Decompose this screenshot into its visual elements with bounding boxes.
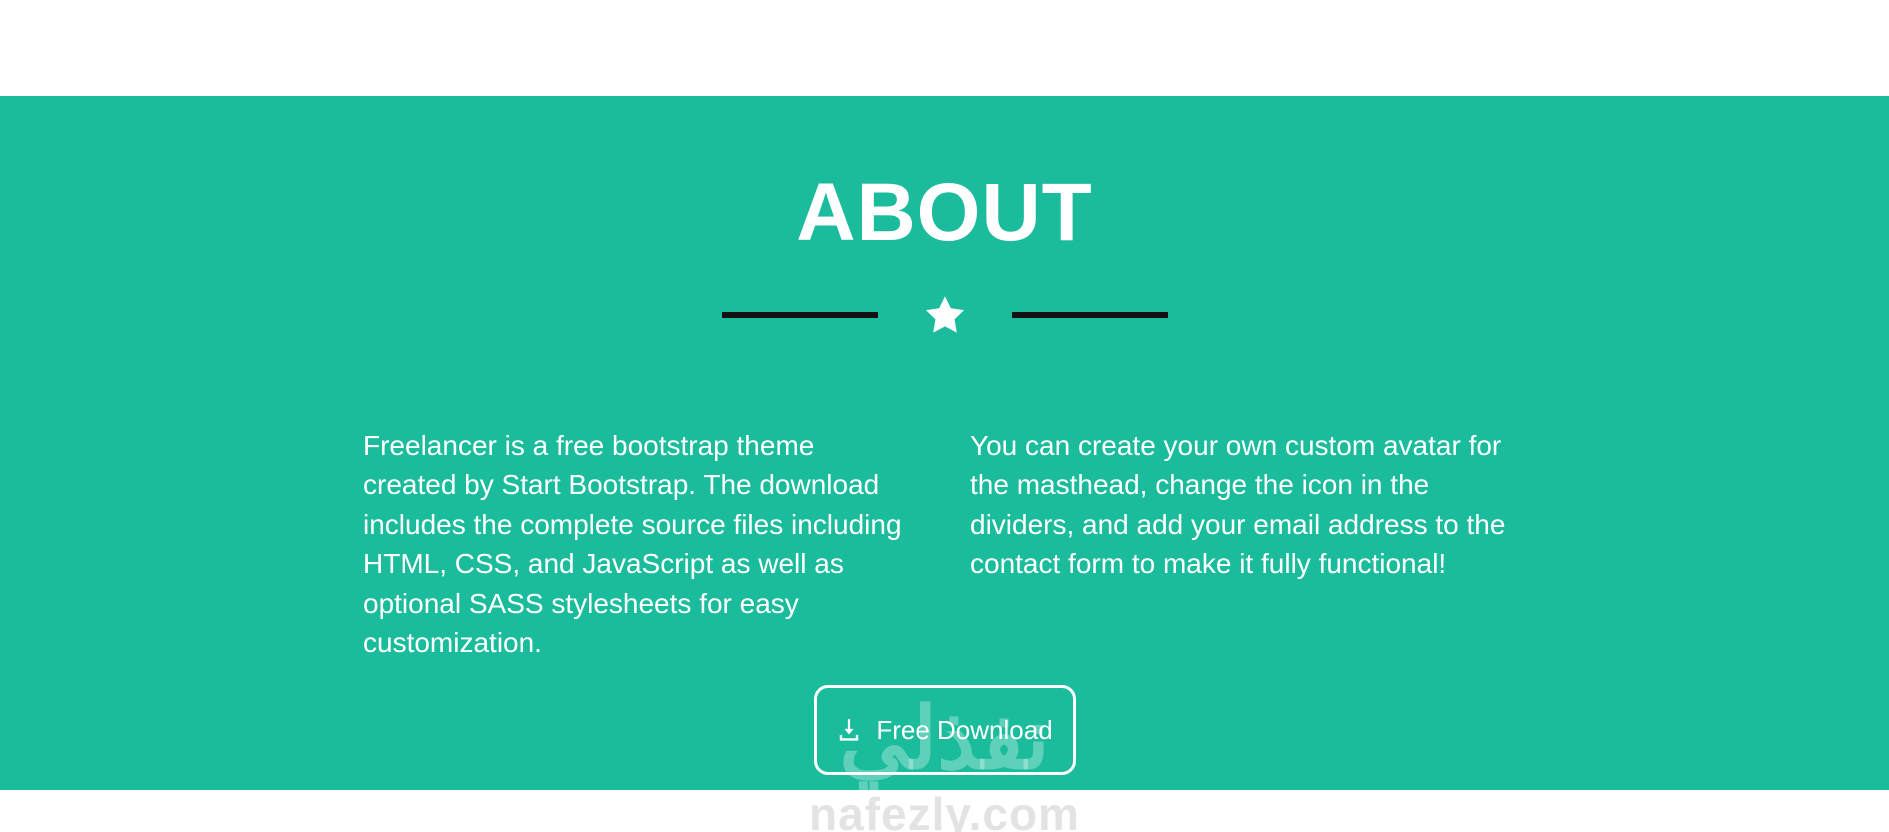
about-section: ABOUT Freelancer is a free bootstrap the… (0, 96, 1889, 790)
about-paragraph-left: Freelancer is a free bootstrap theme cre… (363, 426, 903, 663)
free-download-button[interactable]: Free Download (814, 685, 1076, 775)
download-icon (836, 717, 862, 743)
page-root: ABOUT Freelancer is a free bootstrap the… (0, 0, 1889, 832)
download-button-wrapper: Free Download (0, 685, 1889, 775)
about-paragraph-right: You can create your own custom avatar fo… (970, 426, 1510, 584)
page-title: ABOUT (0, 172, 1889, 254)
divider (0, 292, 1889, 338)
star-icon (923, 293, 967, 337)
bottom-white-strip (0, 790, 1889, 832)
divider-line-left (722, 312, 878, 318)
download-button-label: Free Download (876, 715, 1052, 746)
about-text-columns: Freelancer is a free bootstrap theme cre… (333, 426, 1543, 663)
divider-line-right (1012, 312, 1168, 318)
top-white-strip (0, 0, 1889, 96)
